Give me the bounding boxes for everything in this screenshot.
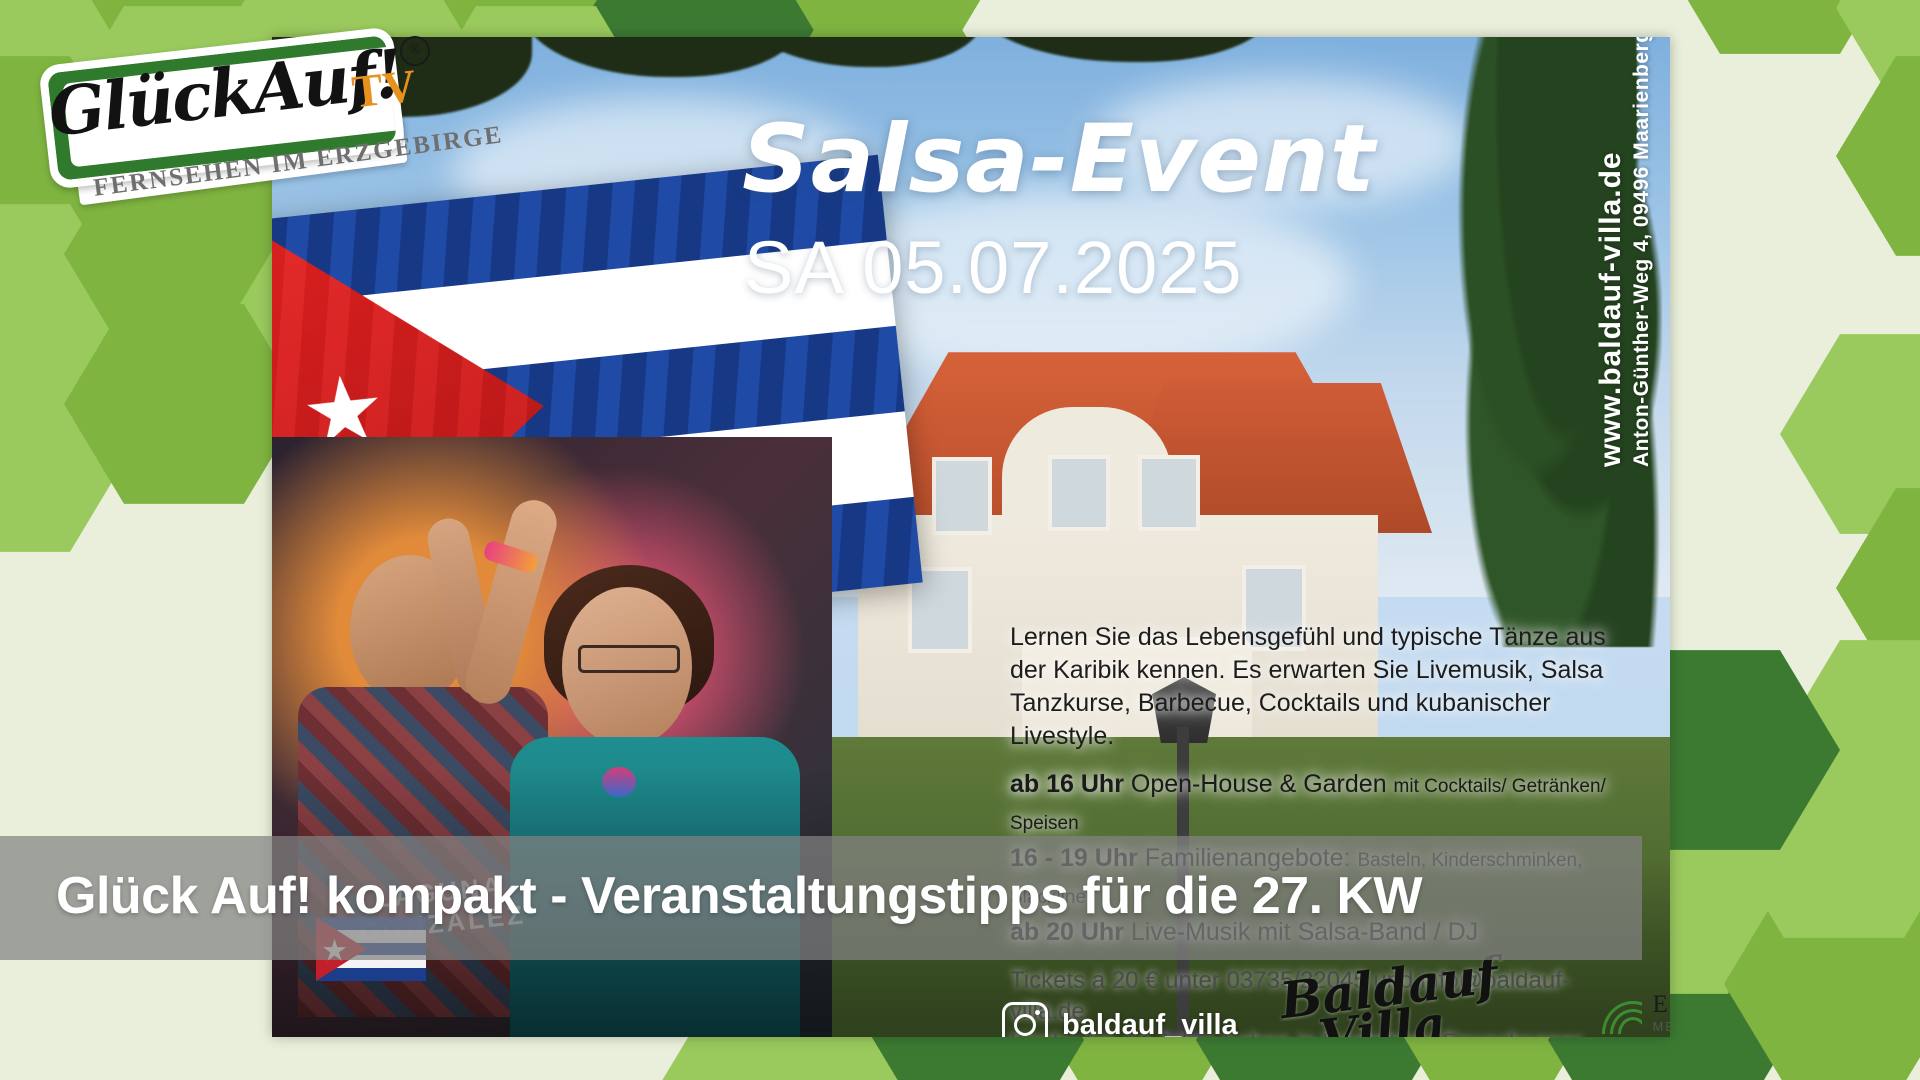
flyer-website-vertical: www.baldauf-villa.de [1594,151,1628,467]
instagram-handle[interactable]: baldauf_villa [1062,1009,1238,1038]
logo-tv-suffix: TV [349,59,418,119]
schedule-main: Open-House & Garden [1131,770,1387,798]
instagram-icon[interactable] [1002,1002,1048,1037]
erzgebirge-name: ERZGEBIRGE [1652,991,1670,1018]
flyer-address-vertical: Anton-Günther-Weg 4, 09496 Maarienberg [1630,37,1654,467]
schedule-time: ab 16 Uhr [1010,770,1124,798]
erzgebirge-arc-icon [1602,994,1642,1034]
erzgebirge-tagline: MEIN ZUHAUSE [1652,1019,1670,1034]
baldauf-villa-logo: Baldauf Villa [1278,954,1505,1037]
glueck-auf-tv-logo[interactable]: GlückAuf! TV ® FERNSEHEN IM ERZGEBIRGE [22,18,422,188]
erzgebirge-partner-logo: ERZGEBIRGE MEIN ZUHAUSE [1602,992,1670,1036]
caption-title: Glück Auf! kompakt - Veranstaltungstipps… [56,866,1422,926]
screenshot-root: LAGUNA GONZALEZ Salsa-Event SA 05.07.202… [0,0,1920,1080]
schedule-row: ab 16 Uhr Open-House & Garden mit Cockta… [1010,767,1630,841]
flyer-title: Salsa-Event [742,105,1376,214]
flyer-description: Lernen Sie das Lebensgefühl und typische… [1010,621,1630,753]
flyer-date: SA 05.07.2025 [744,225,1243,310]
instagram-block[interactable]: baldauf_villa [1002,1002,1238,1037]
erzgebirge-logo-text: ERZGEBIRGE MEIN ZUHAUSE [1652,992,1670,1036]
